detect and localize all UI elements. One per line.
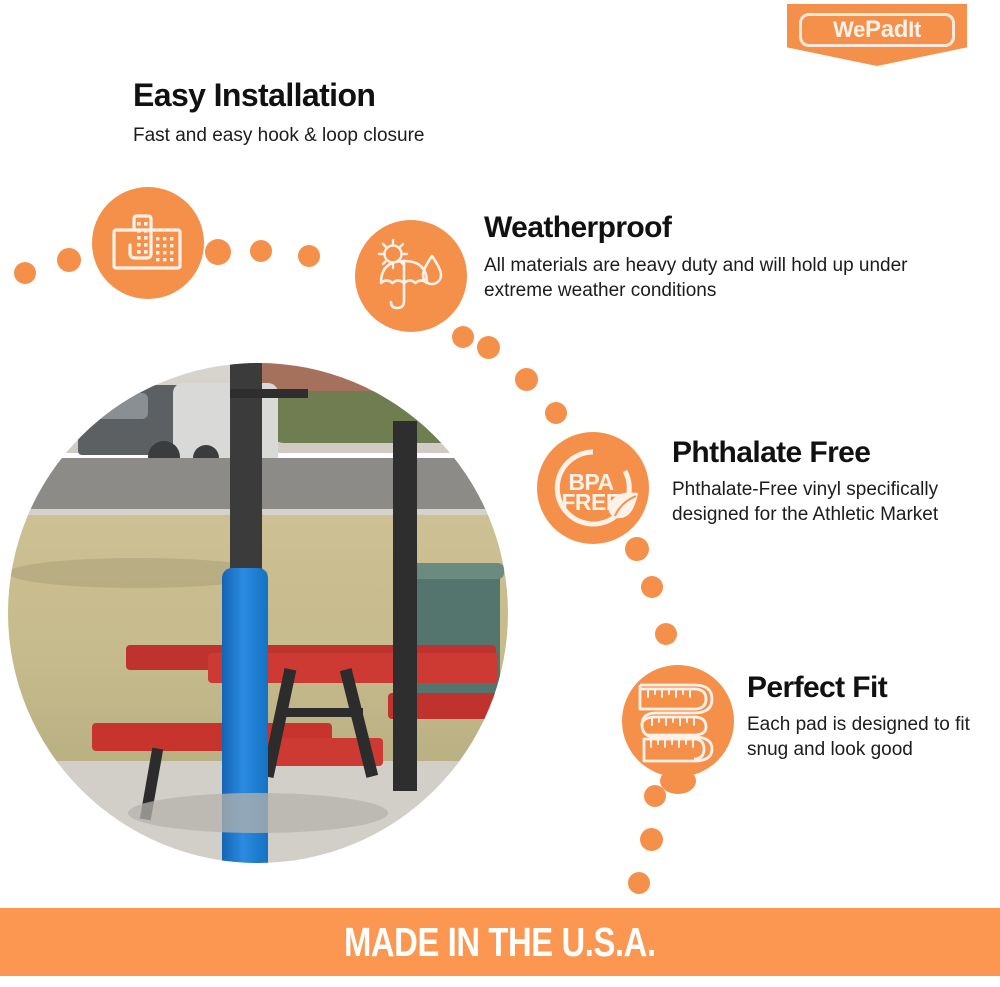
feature-description: Each pad is designed to fit snug and loo… [747, 712, 987, 762]
feature-icon-easy-installation [92, 187, 204, 299]
umbrella-sun-raindrop-icon [371, 238, 451, 314]
trail-dot [250, 240, 272, 262]
photo-ground-shadow [128, 793, 388, 833]
photo-shelter-post-right [393, 421, 417, 791]
feature-title: Weatherproof [484, 212, 914, 244]
logo-text-we: We [833, 17, 865, 42]
feature-block-easy-installation: Easy Installation Fast and easy hook & l… [133, 78, 553, 148]
trail-dot [641, 576, 663, 598]
bpa-free-leaf-icon: BPA FREE [545, 440, 641, 536]
trail-dot [57, 248, 81, 272]
feature-block-phthalate-free: Phthalate Free Phthalate-Free vinyl spec… [672, 437, 972, 528]
photo-table-brace [283, 708, 363, 717]
feature-description: All materials are heavy duty and will ho… [484, 253, 914, 303]
photo-scene [8, 363, 508, 863]
feature-icon-perfect-fit [622, 665, 734, 777]
hook-and-loop-icon [111, 212, 185, 274]
feature-title: Perfect Fit [747, 672, 987, 704]
trail-dot [205, 239, 231, 265]
trail-dot [640, 828, 663, 851]
feature-description: Phthalate-Free vinyl specifically design… [672, 477, 972, 527]
trail-dot [298, 245, 320, 267]
made-in-usa-text: MADE IN THE U.S.A. [344, 919, 656, 966]
made-in-usa-banner: MADE IN THE U.S.A. [0, 908, 1000, 976]
photo-post-bracket [230, 389, 308, 398]
logo-text-it: It [908, 17, 921, 42]
trail-dot [625, 537, 649, 561]
photo-hedge [268, 391, 508, 443]
feature-title: Easy Installation [133, 78, 553, 113]
feature-title: Phthalate Free [672, 437, 972, 469]
infographic-page: WePadIt [0, 0, 1000, 987]
feature-icon-phthalate-free: BPA FREE [537, 432, 649, 544]
tape-knob [660, 768, 696, 794]
trail-dot [628, 872, 650, 894]
feature-description: Fast and easy hook & loop closure [133, 123, 553, 148]
feature-icon-weatherproof [355, 220, 467, 332]
trail-dot [452, 326, 474, 348]
photo-trash-can-rim [404, 563, 504, 579]
feature-block-perfect-fit: Perfect Fit Each pad is designed to fit … [747, 672, 987, 763]
trail-dot [515, 368, 538, 391]
logo-outline-box: WePadIt [799, 13, 955, 47]
feature-block-weatherproof: Weatherproof All materials are heavy dut… [484, 212, 914, 304]
brand-logo[interactable]: WePadIt [787, 4, 967, 66]
trail-dot [655, 623, 677, 645]
photo-car-window [92, 393, 148, 419]
product-photo [8, 363, 508, 863]
logo-text-pad: Pad [865, 16, 908, 43]
trail-dot [545, 402, 567, 424]
trail-dot [477, 336, 500, 359]
logo-wordmark: WePadIt [833, 18, 921, 42]
trail-dot [14, 262, 36, 284]
measuring-tape-icon [632, 673, 724, 769]
